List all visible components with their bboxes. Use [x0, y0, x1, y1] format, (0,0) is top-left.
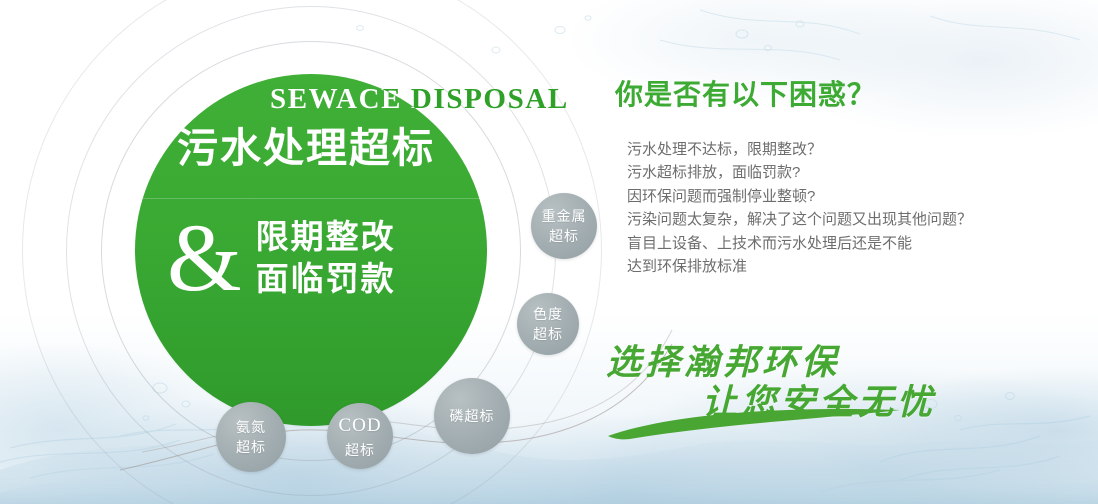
bubble-ammonia[interactable]: 氨氮 超标	[216, 402, 286, 472]
question-list: 污水处理不达标，限期整改？ 污水超标排放，面临罚款? 因环保问题而强制停业整顿?…	[627, 138, 1075, 279]
question-item-5: 盲目上设备、上技术而污水处理后还是不能	[627, 232, 1075, 256]
question-title: 你是否有以下困惑？	[615, 78, 1075, 112]
question-item-4: 污染问题太复杂，解决了这个问题又出现其他问题？	[627, 208, 1075, 232]
right-content-column: 你是否有以下困惑？ 污水处理不达标，限期整改？ 污水超标排放，面临罚款? 因环保…	[615, 78, 1075, 279]
bubble-chroma-line1: 色度	[533, 304, 563, 324]
green-hero-circle	[135, 74, 487, 426]
bubble-cod-line1: COD	[338, 412, 381, 440]
bubble-cod-line2: 超标	[345, 440, 375, 460]
bubble-chroma-line2: 超标	[533, 324, 563, 344]
sewage-disposal-banner: 污水处理超标 & 限期整改 面临罚款 SEWACE DISPOSAL SEWAC…	[0, 0, 1098, 504]
bubble-heavy-metal-line1: 重金属	[542, 206, 587, 226]
question-item-6: 达到环保排放标准	[627, 255, 1075, 279]
bubble-ammonia-line2: 超标	[236, 437, 266, 457]
bubble-ammonia-line1: 氨氮	[236, 417, 266, 437]
bubble-phosphorus[interactable]: 磷超标	[434, 378, 510, 454]
question-item-3: 因环保问题而强制停业整顿?	[627, 185, 1075, 209]
question-item-1: 污水处理不达标，限期整改？	[627, 138, 1075, 162]
slogan-swoosh-icon	[600, 406, 960, 442]
bubble-cod[interactable]: COD 超标	[327, 403, 393, 469]
slogan-group: 选择瀚邦环保 让您安全无忧	[600, 330, 1000, 440]
bubble-phosphorus-line1: 磷超标	[450, 406, 495, 426]
bubble-heavy-metal-line2: 超标	[549, 226, 579, 246]
english-title-wrap: SEWACE DISPOSAL SEWACE DISPOSAL	[270, 82, 590, 116]
question-item-2: 污水超标排放，面临罚款?	[627, 161, 1075, 185]
bubble-chroma[interactable]: 色度 超标	[517, 293, 579, 355]
bubble-heavy-metal[interactable]: 重金属 超标	[531, 193, 597, 259]
